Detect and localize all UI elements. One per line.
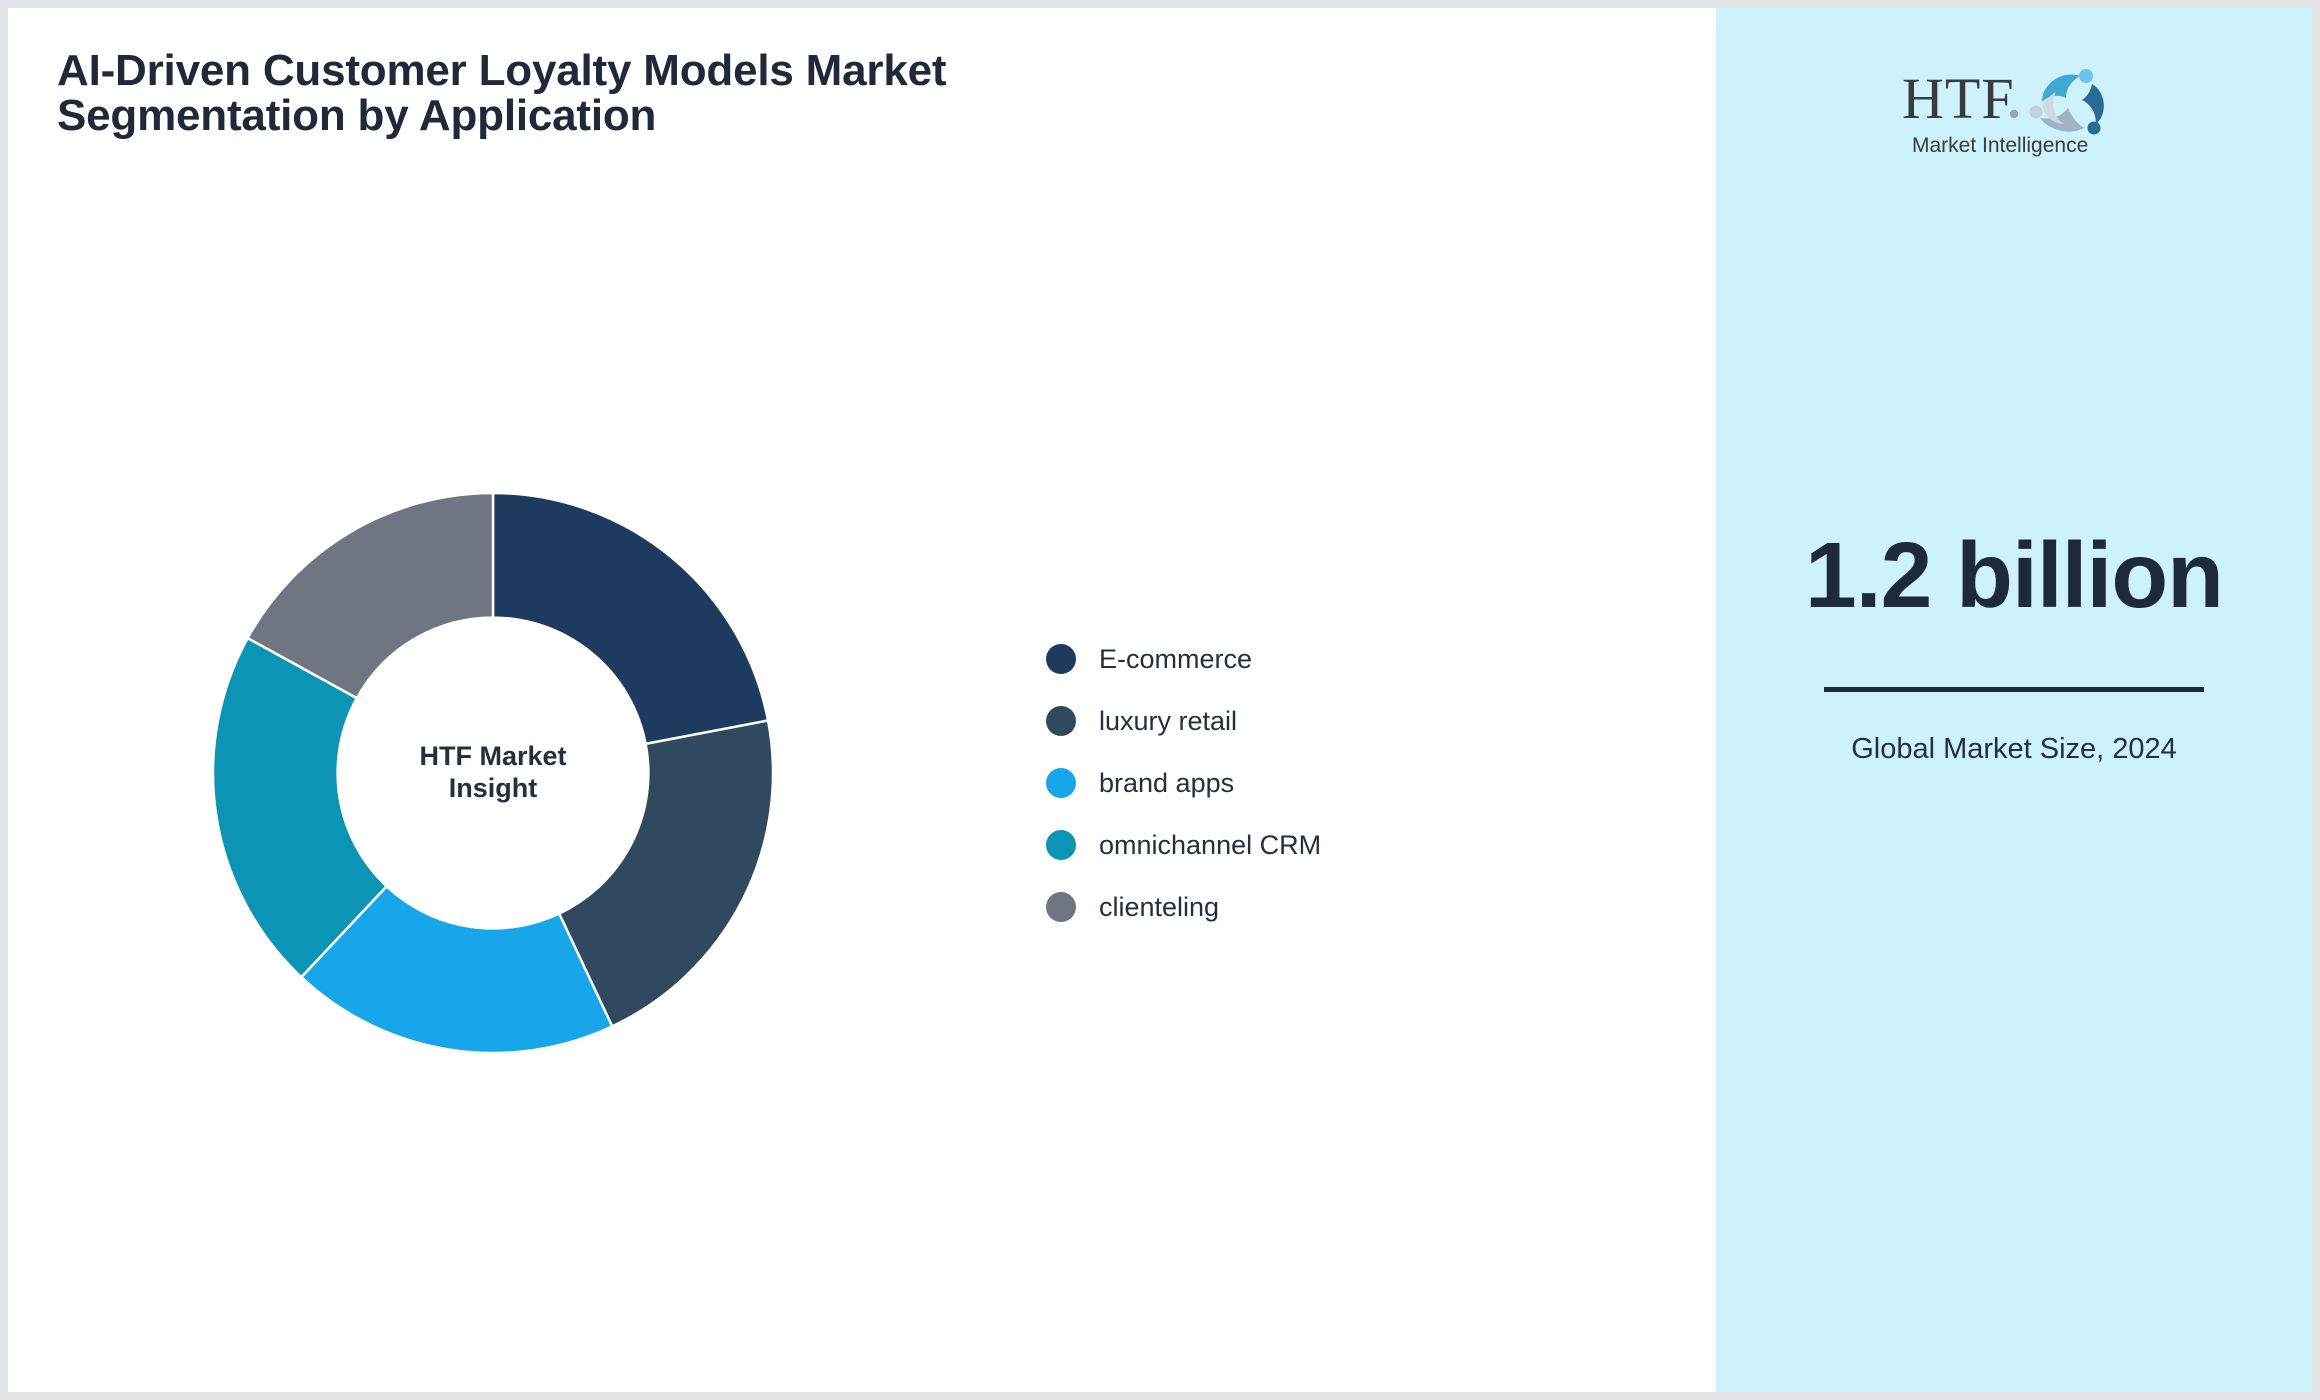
legend-item-label: luxury retail: [1099, 706, 1237, 737]
donut-slices: [213, 493, 773, 1053]
legend-item-label: brand apps: [1099, 768, 1234, 799]
legend-item[interactable]: clienteling: [1046, 876, 1476, 938]
infographic-root: AI-Driven Customer Loyalty Models Market…: [0, 0, 2320, 1400]
svg-text:Market Intelligence: Market Intelligence: [1912, 134, 2088, 157]
stat-caption: Global Market Size, 2024: [1849, 732, 2179, 766]
legend-item[interactable]: brand apps: [1046, 752, 1476, 814]
legend-item-label: clienteling: [1099, 892, 1219, 923]
brand-logo: HTF Market Intelligence: [1894, 56, 2134, 160]
legend-item-label: E-commerce: [1099, 644, 1252, 675]
htf-market-intelligence-logo-icon: HTF Market Intelligence: [1894, 56, 2134, 160]
legend-item[interactable]: omnichannel CRM: [1046, 814, 1476, 876]
infographic-card: AI-Driven Customer Loyalty Models Market…: [8, 8, 2312, 1392]
legend-swatch-icon: [1046, 706, 1076, 736]
legend-item[interactable]: luxury retail: [1046, 690, 1476, 752]
stat-block: 1.2 billion Global Market Size, 2024: [1716, 528, 2312, 766]
chart-legend: E-commerceluxury retailbrand appsomnicha…: [1046, 628, 1476, 938]
donut-slice[interactable]: [493, 493, 768, 744]
chart-panel: AI-Driven Customer Loyalty Models Market…: [8, 8, 1716, 1392]
legend-swatch-icon: [1046, 768, 1076, 798]
donut-chart: HTF Market Insight: [203, 483, 783, 1063]
legend-swatch-icon: [1046, 830, 1076, 860]
legend-swatch-icon: [1046, 644, 1076, 674]
legend-item[interactable]: E-commerce: [1046, 628, 1476, 690]
stat-panel: HTF Market Intelligence: [1716, 8, 2312, 1392]
stat-divider: [1824, 687, 2204, 692]
page-title: AI-Driven Customer Loyalty Models Market…: [57, 48, 1007, 139]
legend-swatch-icon: [1046, 892, 1076, 922]
svg-text:HTF: HTF: [1902, 66, 2015, 131]
legend-item-label: omnichannel CRM: [1099, 830, 1321, 861]
donut-chart-svg: [203, 483, 783, 1063]
stat-value: 1.2 billion: [1716, 528, 2312, 623]
